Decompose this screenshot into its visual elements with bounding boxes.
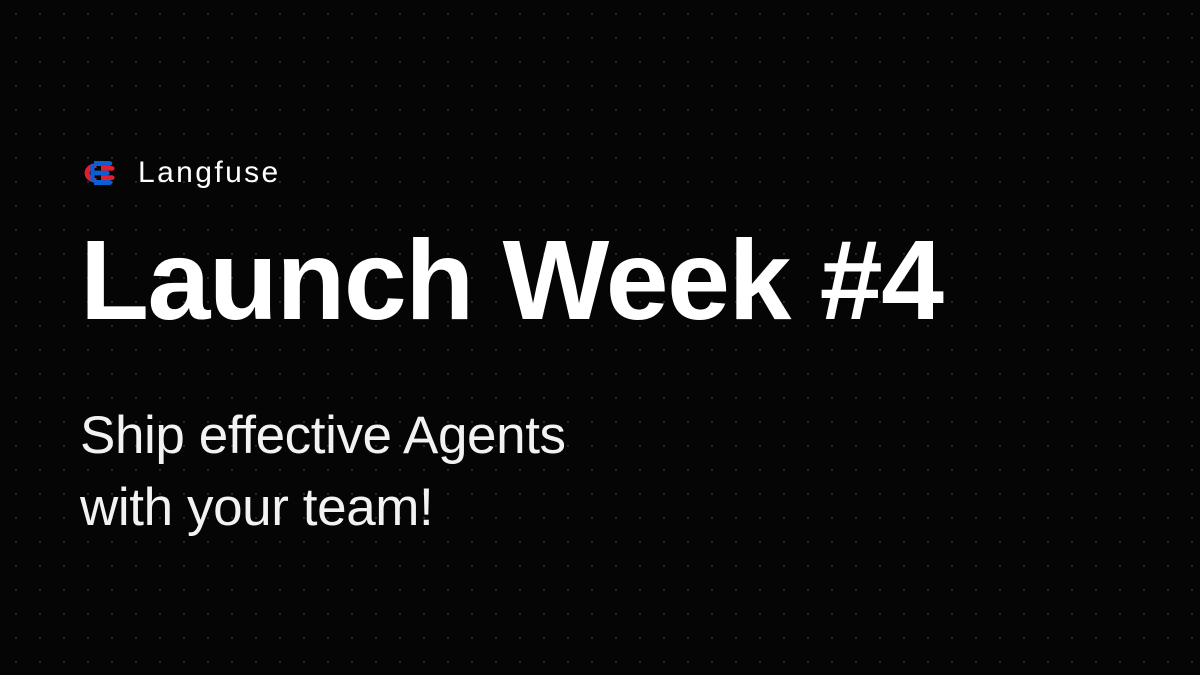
- hero-subtitle-line-2: with your team!: [80, 472, 566, 544]
- page-title: Launch Week #4: [80, 222, 942, 340]
- langfuse-logo-icon: [80, 160, 120, 186]
- brand-lockup: Langfuse: [80, 158, 281, 188]
- hero-subtitle: Ship effective Agents with your team!: [80, 400, 566, 544]
- hero-subtitle-line-1: Ship effective Agents: [80, 400, 566, 472]
- hero-content: Langfuse Launch Week #4 Ship effective A…: [80, 0, 1140, 675]
- brand-name: Langfuse: [138, 158, 281, 188]
- launch-week-hero-banner: Langfuse Launch Week #4 Ship effective A…: [0, 0, 1200, 675]
